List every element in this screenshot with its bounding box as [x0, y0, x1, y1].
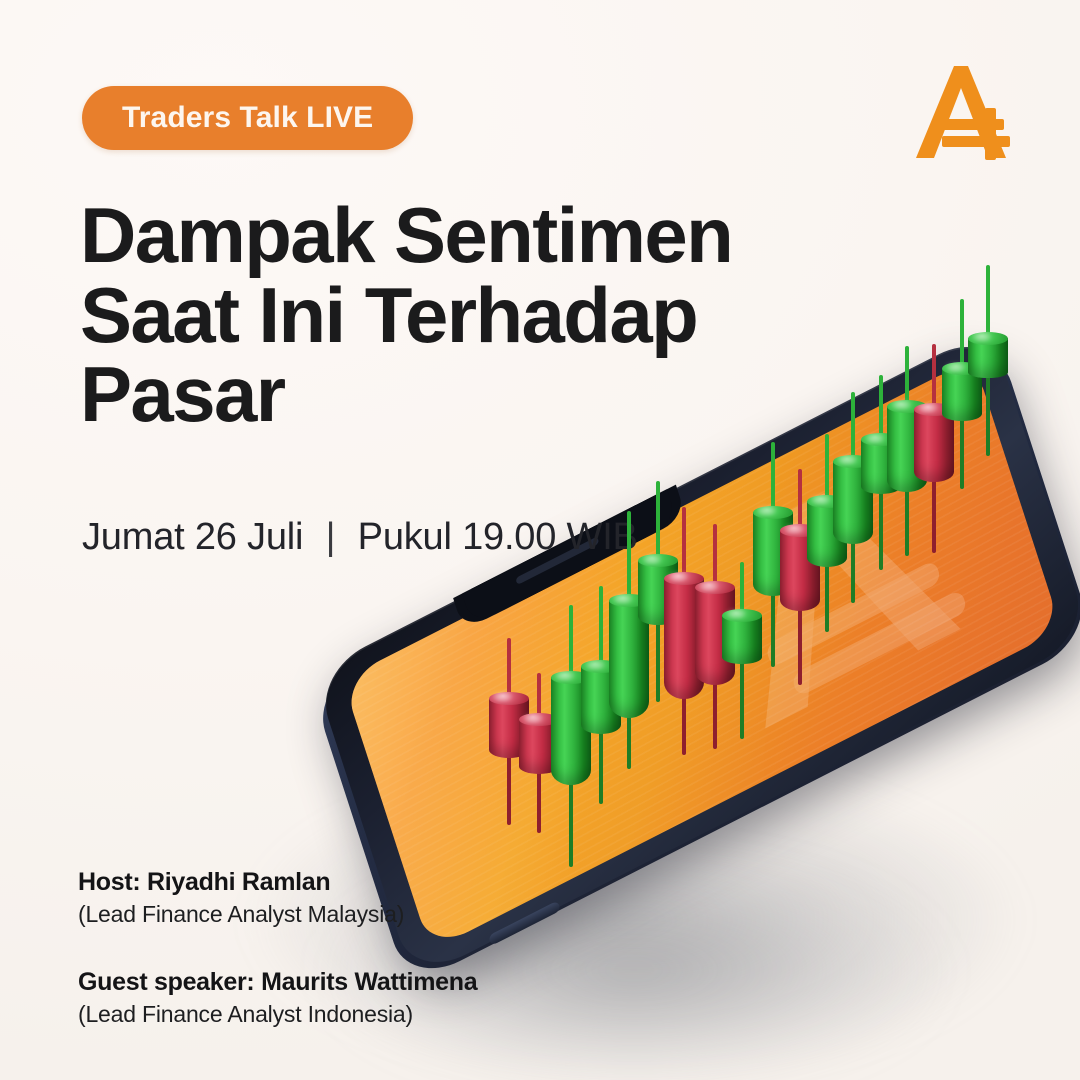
credits-spacer: [78, 928, 598, 968]
candle-wick-upper: [986, 265, 990, 336]
title-line-3: Pasar: [80, 355, 840, 435]
credits-block: Host: Riyadhi Ramlan (Lead Finance Analy…: [78, 868, 598, 1028]
phone-screen: [343, 358, 1062, 951]
live-badge-label: Traders Talk LIVE: [122, 101, 373, 135]
promo-poster: Traders Talk LIVE Dampak Sentimen Saat I…: [0, 0, 1080, 1080]
host-role: (Lead Finance Analyst Malaysia): [78, 901, 598, 928]
schedule-date: Jumat 26 Juli: [82, 516, 303, 558]
title-line-2: Saat Ini Terhadap: [80, 276, 840, 356]
schedule-time: Pukul 19.00 WIB: [358, 516, 638, 558]
page-title: Dampak Sentimen Saat Ini Terhadap Pasar: [80, 196, 840, 435]
guest-name: Guest speaker: Maurits Wattimena: [78, 968, 598, 997]
schedule-line: Jumat 26 Juli | Pukul 19.00 WIB: [82, 516, 638, 559]
live-badge: Traders Talk LIVE: [82, 86, 413, 150]
brand-a-logo: [910, 62, 1022, 166]
host-name: Host: Riyadhi Ramlan: [78, 868, 598, 897]
schedule-divider: |: [326, 516, 336, 558]
title-line-1: Dampak Sentimen: [80, 196, 840, 276]
guest-role: (Lead Finance Analyst Indonesia): [78, 1001, 598, 1028]
